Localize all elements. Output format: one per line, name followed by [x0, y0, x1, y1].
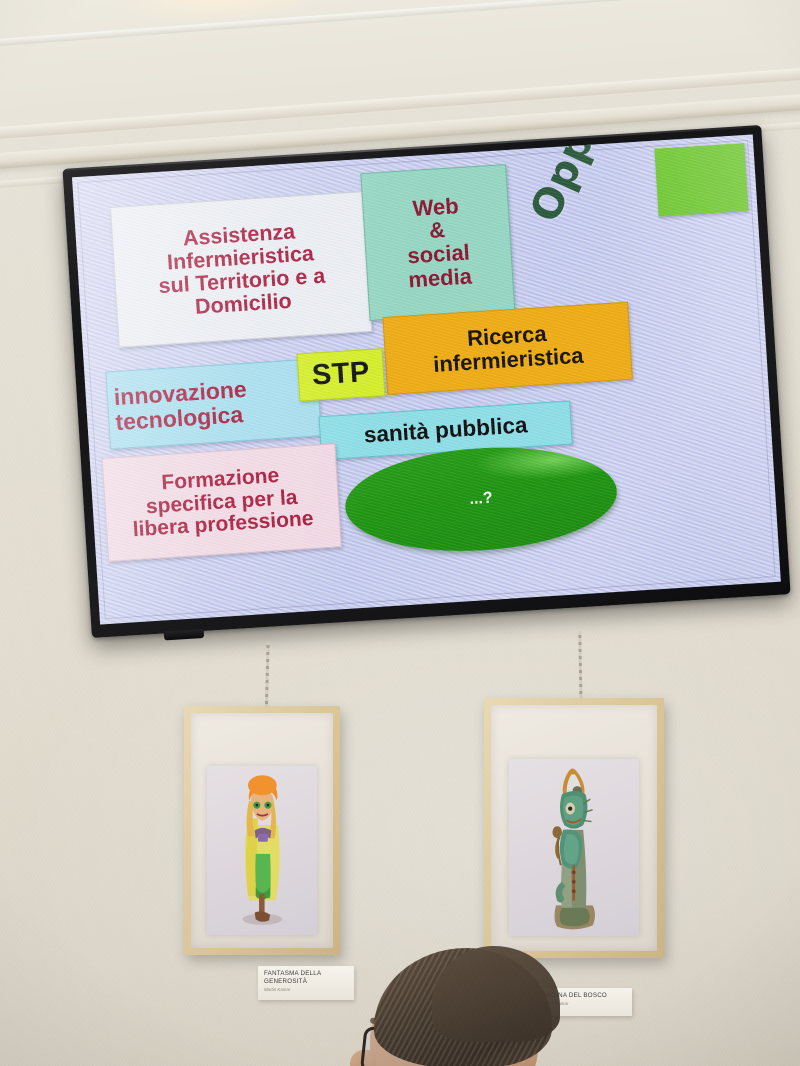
picture-frame-left — [184, 706, 340, 955]
slide-box-innovazione-text: innovazione tecnologica — [113, 377, 249, 434]
picture-frame-left-mat — [207, 766, 318, 935]
person-head — [352, 946, 582, 1066]
slide-box-ricerca-text: Ricerca infermieristica — [431, 320, 584, 376]
picture-frame-left-inner — [191, 713, 333, 948]
picture-frame-right-inner — [491, 705, 657, 951]
picture-frame-right — [484, 698, 664, 958]
slide-box-innovazione-tecnologica: innovazione tecnologica — [105, 358, 321, 449]
slide-box-formazione: Formazione specifica per la libera profe… — [102, 443, 342, 561]
slide-box-stp: STP — [297, 348, 386, 401]
slide-box-formazione-text: Formazione specifica per la libera profe… — [129, 463, 314, 542]
artwork-caption-left-subtitle: Martin Kamar — [264, 987, 349, 993]
picture-frame-right-mat — [509, 759, 638, 936]
artwork-caption-left-title: FANTASMA DELLA GENEROSITÀ — [264, 970, 349, 986]
artwork-regina-del-bosco — [509, 759, 638, 936]
slide-green-accent-block — [654, 143, 748, 217]
slide-box-assistenza: Assistenza Infermieristica sul Territori… — [110, 191, 372, 348]
artwork-fantasma-della-generosita — [207, 766, 318, 935]
slide-box-ricerca-infermieristica: Ricerca infermieristica — [382, 302, 632, 395]
person-hair-top — [432, 946, 560, 1042]
slide-box-web-social-media: Web & social media — [360, 164, 515, 321]
slide-green-ellipse: ...? — [342, 440, 620, 559]
slide-box-web-text: Web & social media — [403, 194, 472, 292]
wall-mounted-tv: Opportunità Assistenza Infermieristica s… — [62, 125, 790, 638]
presentation-slide: Opportunità Assistenza Infermieristica s… — [72, 135, 781, 625]
photo-scene: Opportunità Assistenza Infermieristica s… — [0, 0, 800, 1066]
artwork-caption-left: FANTASMA DELLA GENEROSITÀ Martin Kamar — [258, 966, 354, 1000]
slide-box-assistenza-text: Assistenza Infermieristica sul Territori… — [155, 218, 327, 320]
